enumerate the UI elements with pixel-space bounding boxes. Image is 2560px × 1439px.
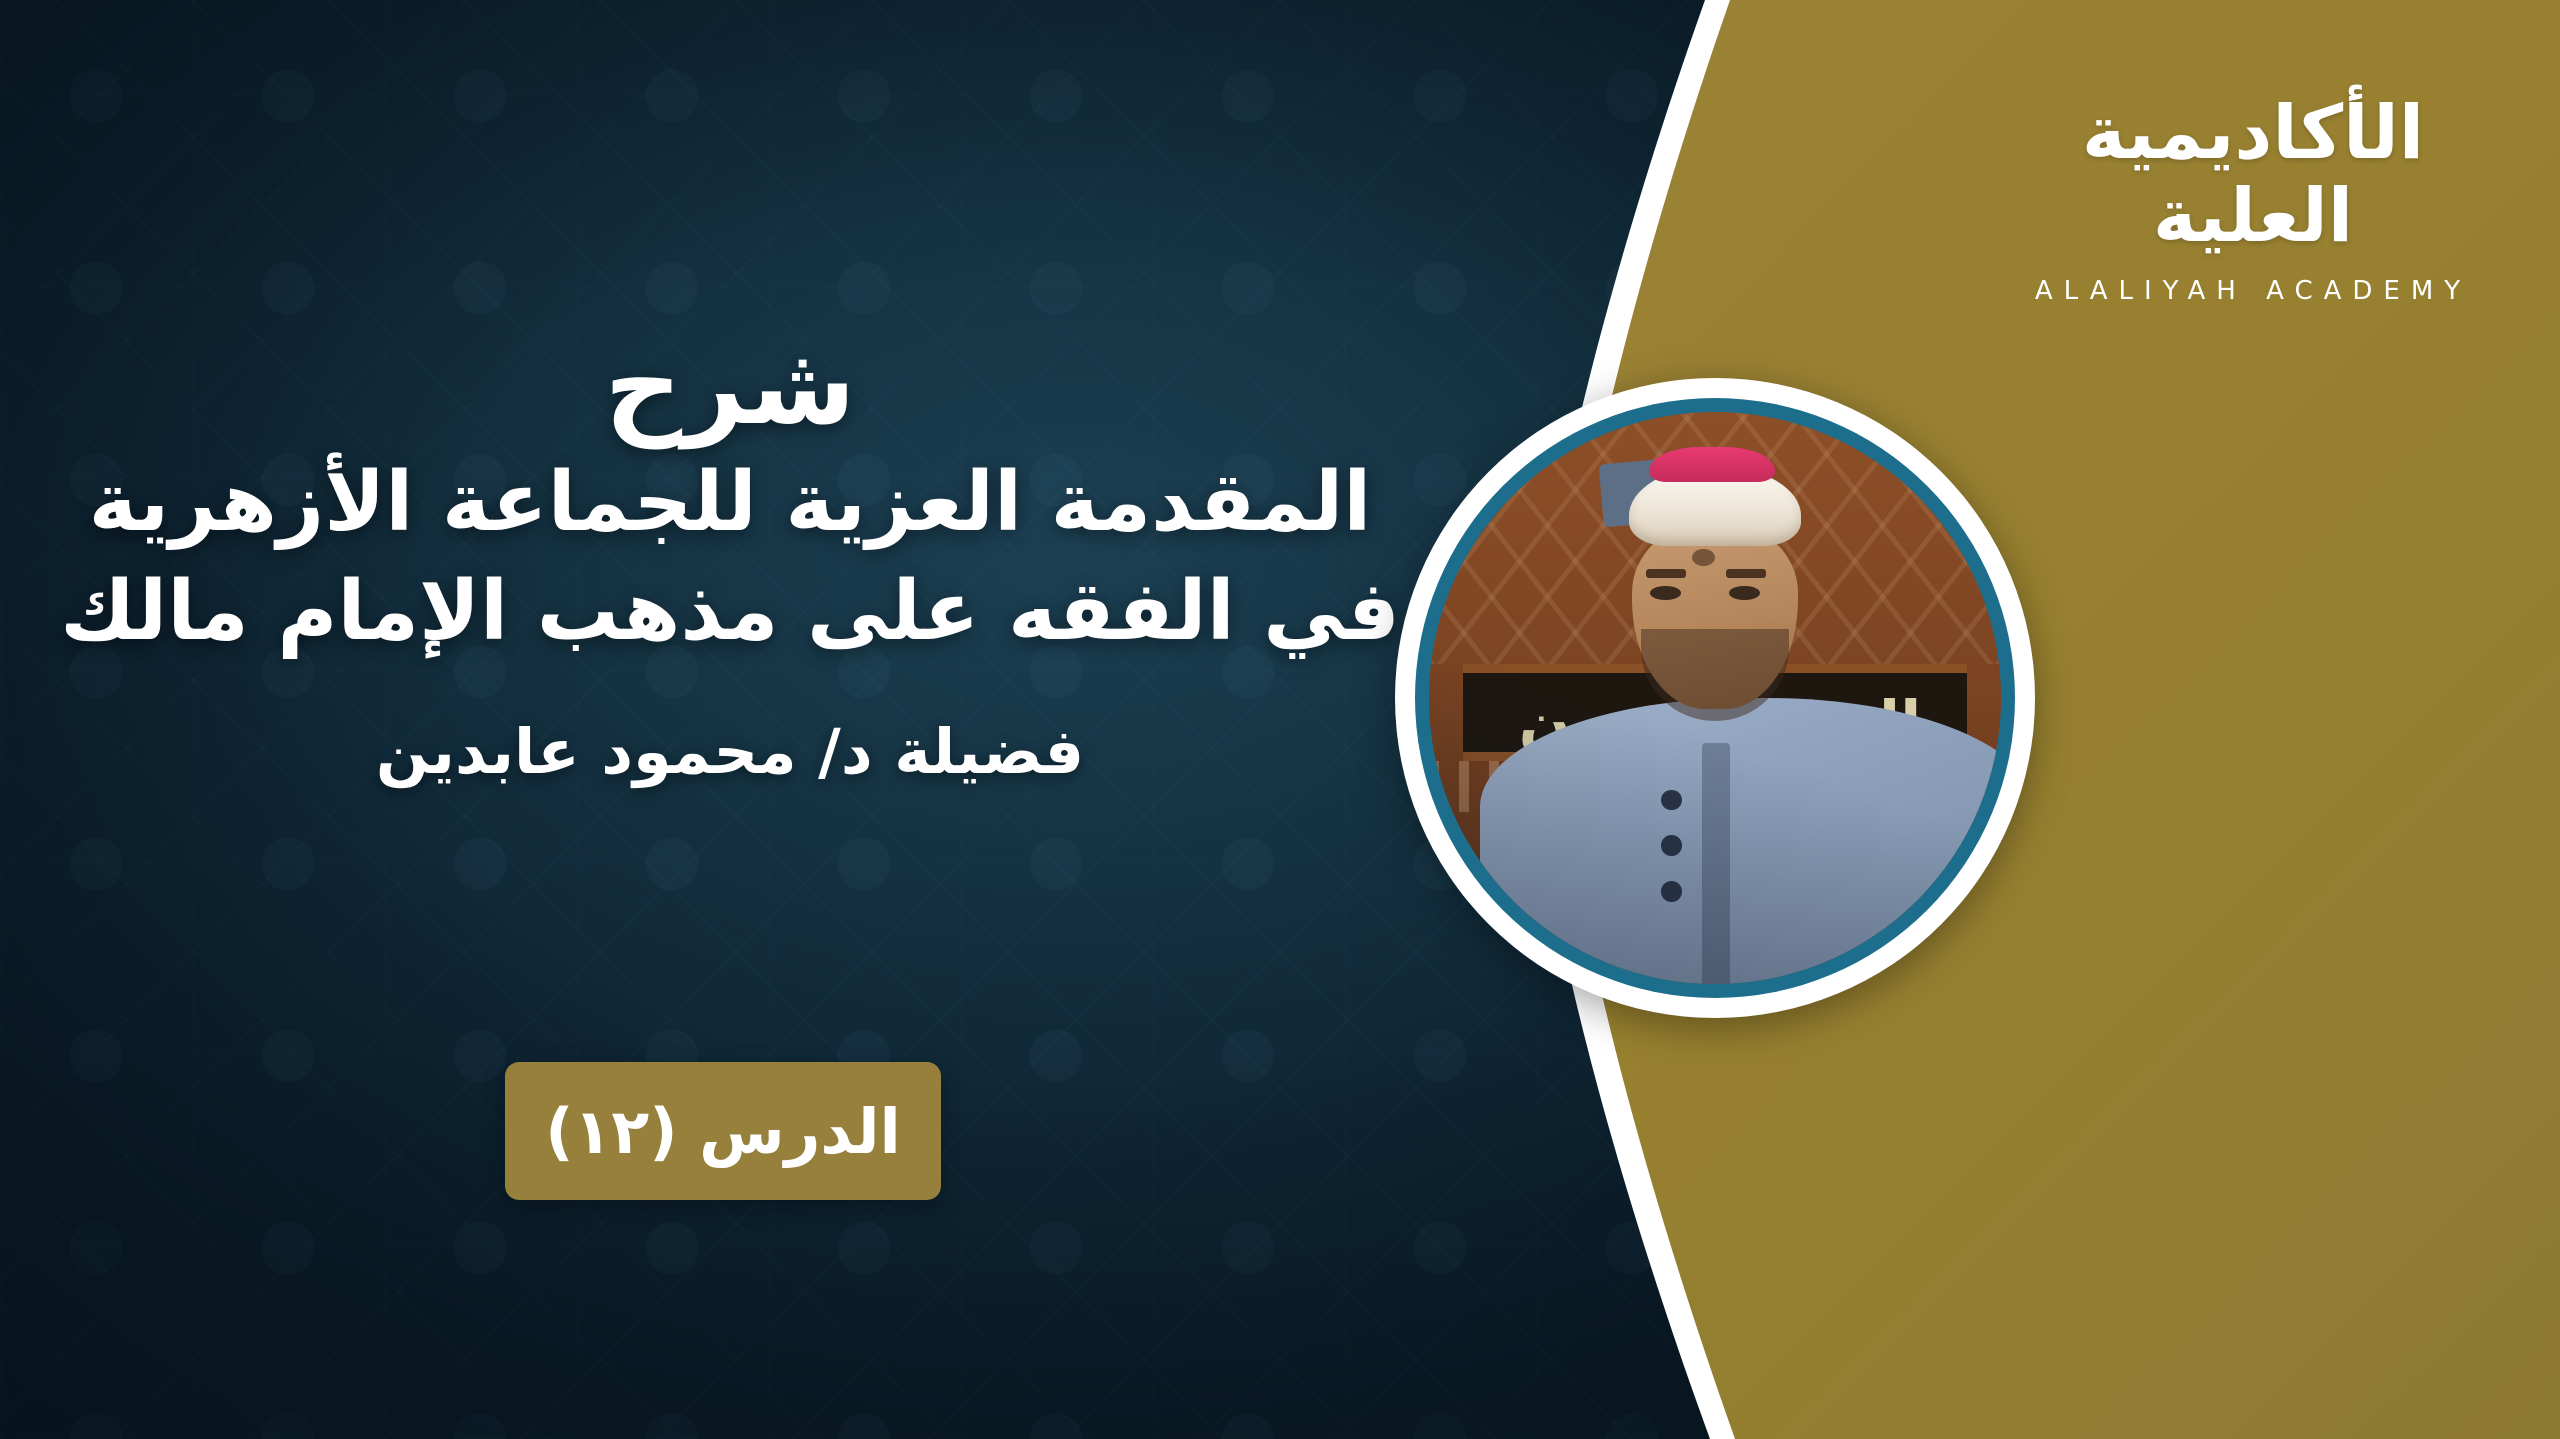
logo-latin-text: ALALIYAH ACADEMY xyxy=(2018,276,2488,306)
portrait-frame-ring: ن الـج xyxy=(1415,398,2015,998)
lesson-number-badge: الدرس (١٢) xyxy=(505,1062,941,1200)
title-line-2: المقدمة العزية للجماعة الأزهرية xyxy=(0,449,1460,557)
presenter-name: فضيلة د/ محمود عابدين xyxy=(0,712,1460,793)
title-line-1: شرح xyxy=(0,330,1460,443)
portrait-frame-outer: ن الـج xyxy=(1395,378,2035,1018)
logo-arabic-text: الأكاديمية العلية xyxy=(2018,92,2488,258)
title-block: شرح المقدمة العزية للجماعة الأزهرية في ا… xyxy=(0,330,1460,792)
title-line-3: في الفقه على مذهب الإمام مالك xyxy=(0,558,1460,666)
title-card: الأكاديمية العلية ALALIYAH ACADEMY شرح ا… xyxy=(0,0,2560,1439)
instructor-portrait: ن الـج xyxy=(1429,412,2001,984)
portrait-shading xyxy=(1429,412,2001,984)
academy-logo: الأكاديمية العلية ALALIYAH ACADEMY xyxy=(2018,92,2488,306)
